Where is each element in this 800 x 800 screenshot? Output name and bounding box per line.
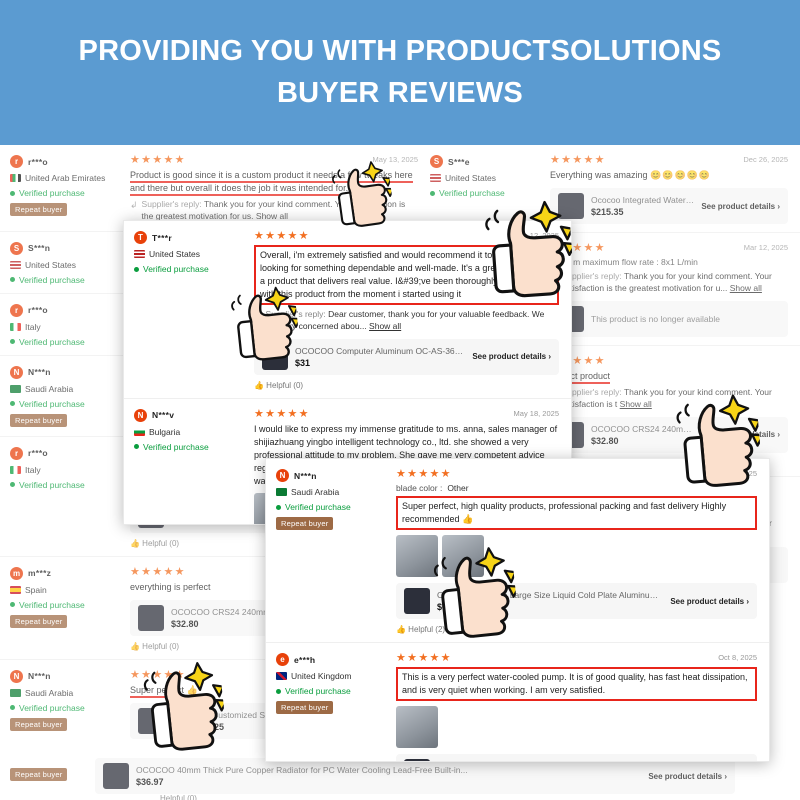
- review-user-column: N N***n Saudi Arabia Verified purchase R…: [276, 469, 396, 634]
- country-flag-icon: [10, 174, 21, 182]
- review-user-column: r r***o Italy Verified purchase: [10, 304, 130, 347]
- verified-purchase-label: Verified purchase: [439, 188, 505, 198]
- repeat-buyer-badge: Repeat buyer: [276, 701, 333, 714]
- verified-check-icon: [10, 705, 15, 710]
- reviewer-country: Italy: [25, 465, 41, 475]
- helpful-button[interactable]: 👍 Helpful (2): [396, 625, 757, 634]
- see-product-details-link[interactable]: See product details ›: [472, 352, 551, 361]
- verified-purchase-label: Verified purchase: [19, 399, 85, 409]
- review-body: May 13, 2025 ★★★★★ Product is good since…: [130, 155, 418, 223]
- verified-check-icon: [134, 444, 139, 449]
- review-photo-thumbnail[interactable]: [442, 535, 484, 577]
- verified-purchase-label: Verified purchase: [19, 188, 85, 198]
- avatar: r: [10, 155, 23, 168]
- supplier-reply: ↲ Supplier's reply: Thank you for your k…: [550, 271, 788, 295]
- avatar: N: [276, 469, 289, 482]
- reviewer-name: r***o: [28, 448, 48, 458]
- review-text: Everything was amazing 😊😊😊😊😊: [550, 169, 788, 182]
- verified-purchase-label: Verified purchase: [19, 275, 85, 285]
- reviewer-country: United States: [149, 249, 200, 259]
- repeat-buyer-badge: Repeat buyer: [276, 517, 333, 530]
- review-body: Aug 12, 2025 ★★★★★ Overall, i'm extremel…: [254, 231, 559, 390]
- review-user-column: N N***n Saudi Arabia Verified purchase R…: [10, 670, 130, 739]
- review-text: Product is good since it is a custom pro…: [130, 169, 418, 195]
- review-sku-attribute: blade color :Other: [396, 483, 757, 493]
- product-thumbnail-icon: [558, 193, 584, 219]
- reviewer-country: United States: [445, 173, 496, 183]
- supplier-reply: ↲ Supplier's reply: Dear customer, thank…: [254, 309, 559, 333]
- review-user-column: r r***o United Arab Emirates Verified pu…: [10, 155, 130, 223]
- verified-purchase-label: Verified purchase: [143, 264, 209, 274]
- show-all-link[interactable]: Show all: [369, 321, 401, 331]
- reviewer-country: Saudi Arabia: [25, 384, 73, 394]
- reviewer-name: m***z: [28, 568, 51, 578]
- reviewer-country: Saudi Arabia: [25, 688, 73, 698]
- reviewer-country: Bulgaria: [149, 427, 180, 437]
- review-sku-attribute: 3x0.5 m maximum flow rate : 8x1 L/min: [550, 257, 788, 267]
- product-thumbnail-icon: [404, 588, 430, 614]
- review-user-column: e e***h United Kingdom Verified purchase…: [276, 653, 396, 762]
- reviewer-name: S***n: [28, 243, 50, 253]
- country-flag-icon: [10, 261, 21, 269]
- avatar: S: [430, 155, 443, 168]
- country-flag-icon: [134, 428, 145, 436]
- verified-purchase-label: Verified purchase: [285, 502, 351, 512]
- country-flag-icon: [134, 250, 145, 258]
- product-row-unavailable: This product is no longer available: [550, 301, 788, 337]
- verified-check-icon: [10, 482, 15, 487]
- verified-purchase-label: Verified purchase: [285, 686, 351, 696]
- product-row[interactable]: Ococoo Integrated Water Cooling System E…: [550, 188, 788, 224]
- product-price: $65.41-72.68: [437, 602, 663, 612]
- review-text: perfect product: [550, 370, 788, 383]
- reviewer-name: S***e: [448, 157, 470, 167]
- review-photo-strip: [396, 706, 757, 748]
- review-item: r r***o United Arab Emirates Verified pu…: [0, 145, 430, 232]
- country-flag-icon: [10, 323, 21, 331]
- product-row[interactable]: OCOCOO OC-55A Large Flow PWM Computer Li…: [396, 754, 757, 762]
- review-user-column: r r***o Italy Verified purchase: [10, 447, 130, 548]
- review-date: May 18, 2025: [514, 409, 559, 418]
- review-photo-thumbnail[interactable]: [396, 706, 438, 748]
- review-emoji: 😊😊😊😊😊: [650, 170, 711, 180]
- review-date: Oct 8, 2025: [718, 653, 757, 662]
- verified-check-icon: [10, 401, 15, 406]
- verified-check-icon: [430, 191, 435, 196]
- product-unavailable-label: This product is no longer available: [591, 314, 780, 324]
- star-rating: ★★★★★: [396, 469, 757, 480]
- product-title: OCOCOO Computer Aluminum OC-AS-360 Case …: [295, 346, 465, 356]
- review-photo-strip: [396, 535, 757, 577]
- product-title: OCOCOO OC-55A Large Flow PWM Computer Li…: [437, 761, 663, 762]
- review-body: Dec 26, 2025 ★★★★★ Everything was amazin…: [550, 155, 788, 224]
- reply-arrow-icon: ↲: [130, 199, 138, 212]
- repeat-buyer-badge: Repeat buyer: [10, 414, 67, 427]
- see-product-details-link[interactable]: See product details ›: [648, 772, 727, 781]
- country-flag-icon: [10, 689, 21, 697]
- reviewer-name: N***n: [28, 367, 51, 377]
- verified-check-icon: [10, 339, 15, 344]
- helpful-button[interactable]: Helpful (0): [160, 794, 197, 800]
- repeat-buyer-badge: Repeat buyer: [10, 203, 67, 216]
- reviewer-country: United Kingdom: [291, 671, 351, 681]
- reviewer-country: Saudi Arabia: [291, 487, 339, 497]
- see-product-details-link[interactable]: See product details ›: [670, 597, 749, 606]
- reviewer-name: N***v: [152, 410, 174, 420]
- reviewer-name: T***r: [152, 233, 172, 243]
- country-flag-icon: [10, 586, 21, 594]
- avatar: T: [134, 231, 147, 244]
- reply-arrow-icon: ↲: [254, 309, 262, 322]
- star-rating: ★★★★★: [254, 231, 559, 242]
- reviewer-country: United States: [25, 260, 76, 270]
- review-body: ★★★★★ perfect product ↲ Supplier's reply…: [550, 356, 788, 468]
- verified-check-icon: [10, 277, 15, 282]
- banner-title-line-2: BUYER REVIEWS: [277, 75, 523, 112]
- review-user-column: m m***z Spain Verified purchase Repeat b…: [10, 567, 130, 651]
- show-all-link[interactable]: Show all: [730, 283, 762, 293]
- product-title: Ococoo Integrated Water Cooling System E…: [591, 195, 694, 205]
- review-user-column: T T***r United States Verified purchase: [134, 231, 254, 390]
- country-flag-icon: [276, 488, 287, 496]
- supplier-reply-label: Supplier's reply:: [142, 199, 202, 209]
- review-date: Dec 26, 2025: [743, 155, 788, 164]
- product-thumbnail-icon: [103, 763, 129, 789]
- review-body: Mar 12, 2025 ★★★★★ 3x0.5 m maximum flow …: [550, 243, 788, 337]
- show-all-link[interactable]: Show all: [620, 399, 652, 409]
- review-date: May 13, 2025: [373, 155, 418, 164]
- reviewer-name: e***h: [294, 655, 315, 665]
- repeat-buyer-badge: Repeat buyer: [10, 718, 67, 731]
- country-flag-icon: [10, 385, 21, 393]
- verified-check-icon: [276, 505, 281, 510]
- product-row[interactable]: OCOCOO 40mm Thick Pure Copper Radiator f…: [95, 758, 735, 794]
- review-item: e e***h United Kingdom Verified purchase…: [266, 643, 769, 762]
- review-text: Super perfect, high quality products, pr…: [396, 496, 757, 530]
- screenshot-root: r r***o United Arab Emirates Verified pu…: [0, 0, 800, 800]
- verified-purchase-label: Verified purchase: [19, 703, 85, 713]
- review-text: Overall, i'm extremely satisfied and wou…: [254, 245, 559, 305]
- review-body: Dec 1, 2025 ★★★★★ blade color :OtherSupe…: [396, 469, 757, 634]
- verified-check-icon: [134, 267, 139, 272]
- banner-title-line-1: PROVIDING YOU WITH PRODUCTSOLUTIONS: [79, 33, 722, 70]
- supplier-reply-label: Supplier's reply:: [266, 309, 326, 319]
- repeat-buyer-badge: Repeat buyer: [10, 615, 67, 628]
- verified-check-icon: [276, 689, 281, 694]
- repeat-buyer-badge: Repeat buyer: [10, 768, 67, 781]
- reviewer-name: r***o: [28, 157, 48, 167]
- reviewer-country: Italy: [25, 322, 41, 332]
- review-body: Oct 8, 2025 ★★★★★ This is a very perfect…: [396, 653, 757, 762]
- avatar: S: [10, 242, 23, 255]
- verified-purchase-label: Verified purchase: [19, 480, 85, 490]
- product-price: $215.35: [591, 207, 694, 217]
- reviewer-name: N***n: [294, 471, 317, 481]
- star-rating: ★★★★★: [396, 653, 757, 664]
- review-text: This is a very perfect water-cooled pump…: [396, 667, 757, 701]
- avatar: N: [10, 670, 23, 683]
- product-row[interactable]: OCOCOO Computer Aluminum OC-AS-360 Case …: [254, 339, 559, 375]
- reviewer-country: United Arab Emirates: [25, 173, 105, 183]
- product-title: OCOCOO Custom Large Size Liquid Cold Pla…: [437, 590, 663, 600]
- reviewer-name: N***n: [28, 671, 51, 681]
- avatar: r: [10, 304, 23, 317]
- product-price: $31: [295, 358, 465, 368]
- avatar: N: [134, 409, 147, 422]
- product-title: OCOCOO CRS24 240mm Copper Radiator Cooli…: [591, 424, 694, 434]
- verified-purchase-label: Verified purchase: [143, 442, 209, 452]
- review-item: N N***n Saudi Arabia Verified purchase R…: [266, 459, 769, 643]
- verified-purchase-label: Verified purchase: [19, 600, 85, 610]
- product-thumbnail-icon: [404, 759, 430, 762]
- review-item: T T***r United States Verified purchase …: [124, 221, 571, 399]
- review-user-column: N N***n Saudi Arabia Verified purchase R…: [10, 366, 130, 428]
- review-photo-thumbnail[interactable]: [396, 535, 438, 577]
- see-product-details-link[interactable]: See product details ›: [701, 430, 780, 439]
- see-product-details-link[interactable]: See product details ›: [701, 202, 780, 211]
- page-header-banner: PROVIDING YOU WITH PRODUCTSOLUTIONS BUYE…: [0, 0, 800, 145]
- floating-review-card-front: N N***n Saudi Arabia Verified purchase R…: [265, 458, 770, 762]
- verified-purchase-label: Verified purchase: [19, 337, 85, 347]
- product-row[interactable]: OCOCOO Custom Large Size Liquid Cold Pla…: [396, 583, 757, 619]
- reviewer-name: r***o: [28, 305, 48, 315]
- product-price: $36.97: [136, 777, 641, 787]
- verified-check-icon: [10, 191, 15, 196]
- product-row[interactable]: OCOCOO CRS24 240mm Copper Radiator Cooli…: [550, 417, 788, 453]
- review-user-column: S S***e United States Verified purchase: [430, 155, 550, 224]
- avatar: N: [10, 366, 23, 379]
- review-user-column: S S***n United States Verified purchase: [10, 242, 130, 285]
- avatar: m: [10, 567, 23, 580]
- review-user-column: N N***v Bulgaria Verified purchase: [134, 409, 254, 525]
- verified-check-icon: [10, 602, 15, 607]
- product-thumbnail-icon: [138, 605, 164, 631]
- review-date: Mar 12, 2025: [744, 243, 788, 252]
- product-title: OCOCOO 40mm Thick Pure Copper Radiator f…: [136, 765, 641, 775]
- country-flag-icon: [430, 174, 441, 182]
- reviewer-country: Spain: [25, 585, 47, 595]
- country-flag-icon: [10, 466, 21, 474]
- helpful-button[interactable]: 👍 Helpful (0): [254, 381, 559, 390]
- supplier-reply: ↲ Supplier's reply: Thank you for your k…: [550, 387, 788, 411]
- product-price: $32.80: [591, 436, 694, 446]
- country-flag-icon: [276, 672, 287, 680]
- avatar: r: [10, 447, 23, 460]
- product-thumbnail-icon: [138, 708, 164, 734]
- avatar: e: [276, 653, 289, 666]
- review-date: Dec 1, 2025: [717, 469, 757, 478]
- review-date: Aug 12, 2025: [514, 231, 559, 240]
- product-thumbnail-icon: [262, 344, 288, 370]
- star-rating: ★★★★★: [550, 356, 788, 367]
